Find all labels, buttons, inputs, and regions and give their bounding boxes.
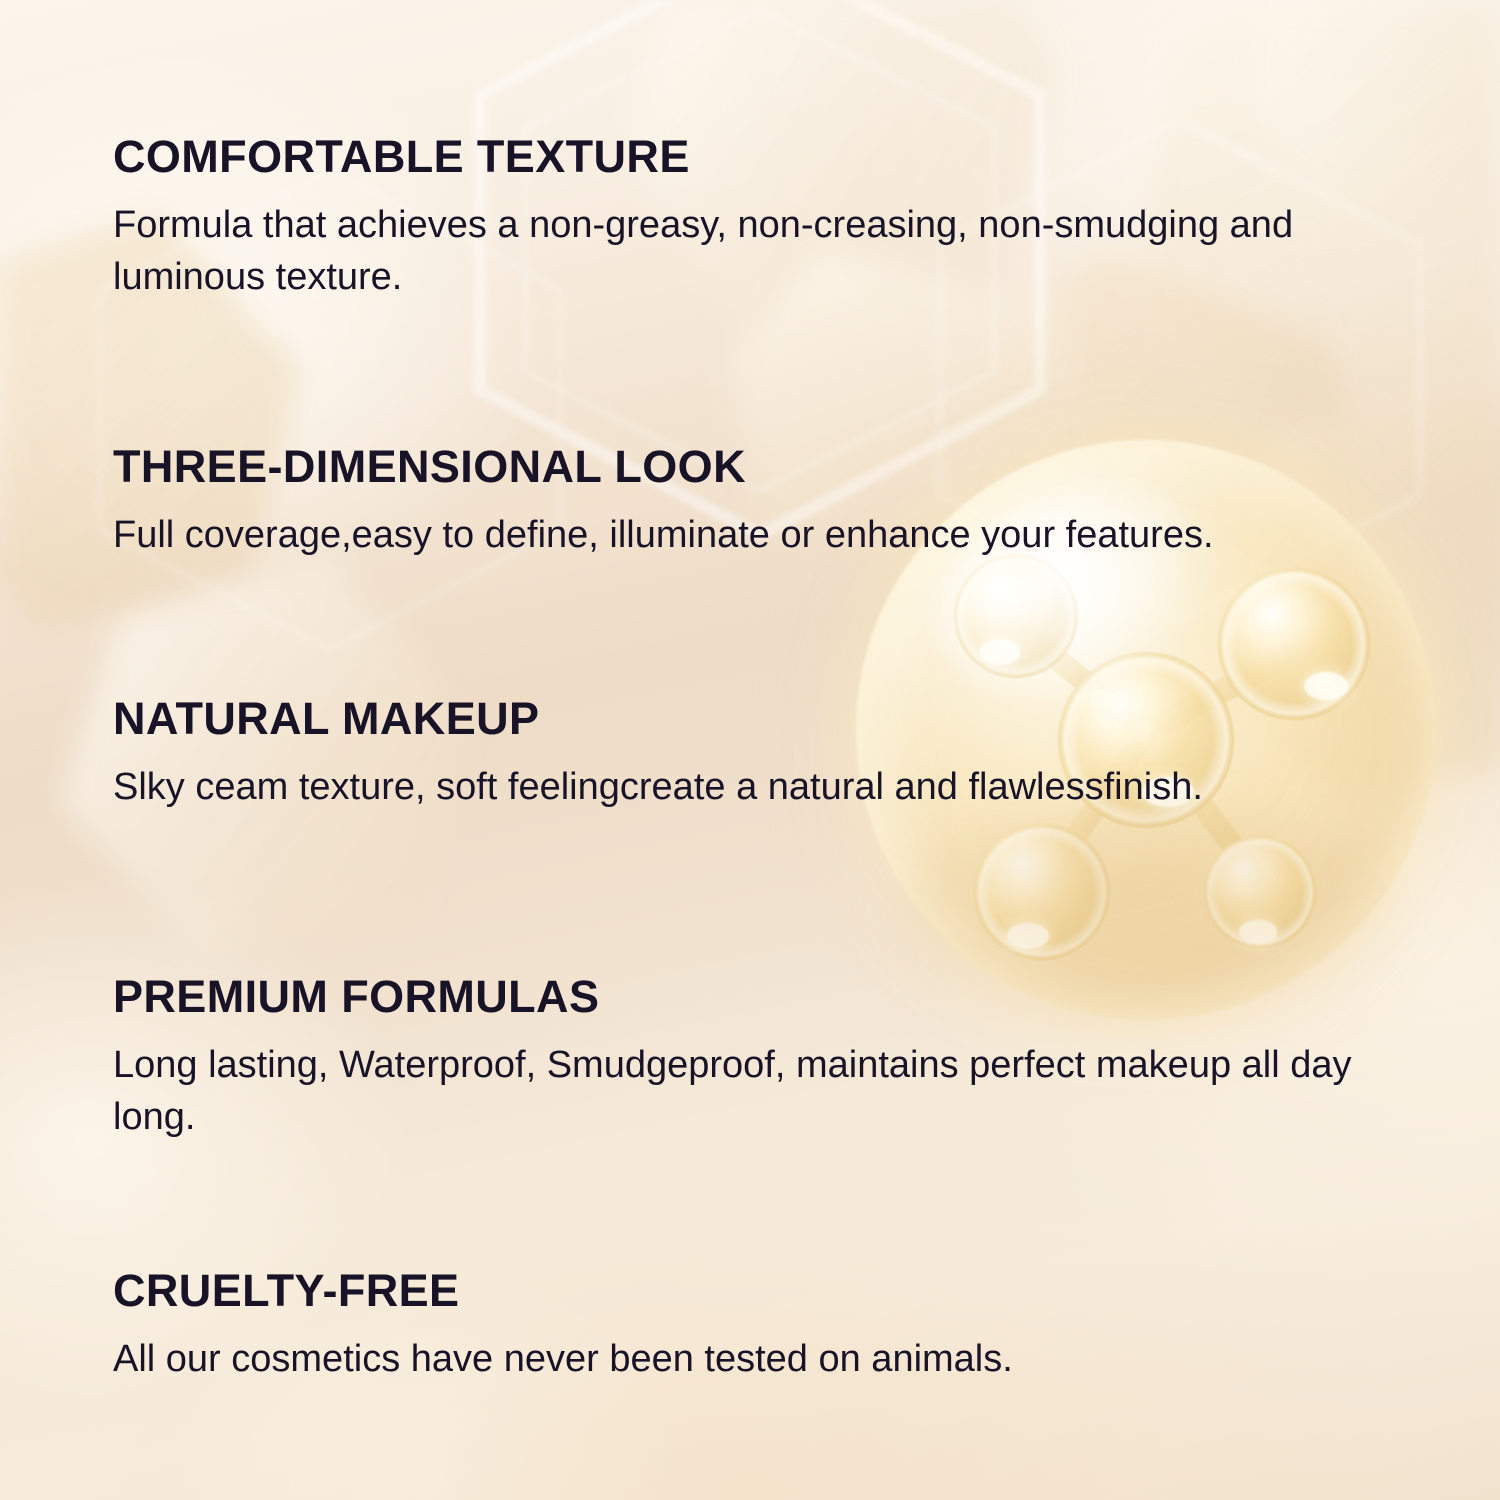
product-benefits-infographic: COMFORTABLE TEXTURE Formula that achieve…: [0, 0, 1500, 1500]
feature-title: THREE-DIMENSIONAL LOOK: [113, 444, 1423, 489]
feature-list: COMFORTABLE TEXTURE Formula that achieve…: [0, 0, 1500, 1500]
feature-block-natural-makeup: NATURAL MAKEUP Slky ceam texture, soft f…: [113, 696, 1423, 813]
feature-description: All our cosmetics have never been tested…: [113, 1313, 1423, 1385]
feature-block-three-dimensional-look: THREE-DIMENSIONAL LOOK Full coverage,eas…: [113, 444, 1423, 561]
feature-description: Formula that achieves a non-greasy, non-…: [113, 179, 1423, 304]
feature-block-premium-formulas: PREMIUM FORMULAS Long lasting, Waterproo…: [113, 974, 1423, 1144]
feature-description: Slky ceam texture, soft feelingcreate a …: [113, 741, 1423, 813]
feature-block-cruelty-free: CRUELTY-FREE All our cosmetics have neve…: [113, 1268, 1423, 1385]
feature-title: NATURAL MAKEUP: [113, 696, 1423, 741]
feature-description: Full coverage,easy to define, illuminate…: [113, 489, 1423, 561]
feature-title: COMFORTABLE TEXTURE: [113, 134, 1423, 179]
feature-title: PREMIUM FORMULAS: [113, 974, 1423, 1019]
feature-block-comfortable-texture: COMFORTABLE TEXTURE Formula that achieve…: [113, 134, 1423, 304]
feature-description: Long lasting, Waterproof, Smudgeproof, m…: [113, 1019, 1423, 1144]
feature-title: CRUELTY-FREE: [113, 1268, 1423, 1313]
